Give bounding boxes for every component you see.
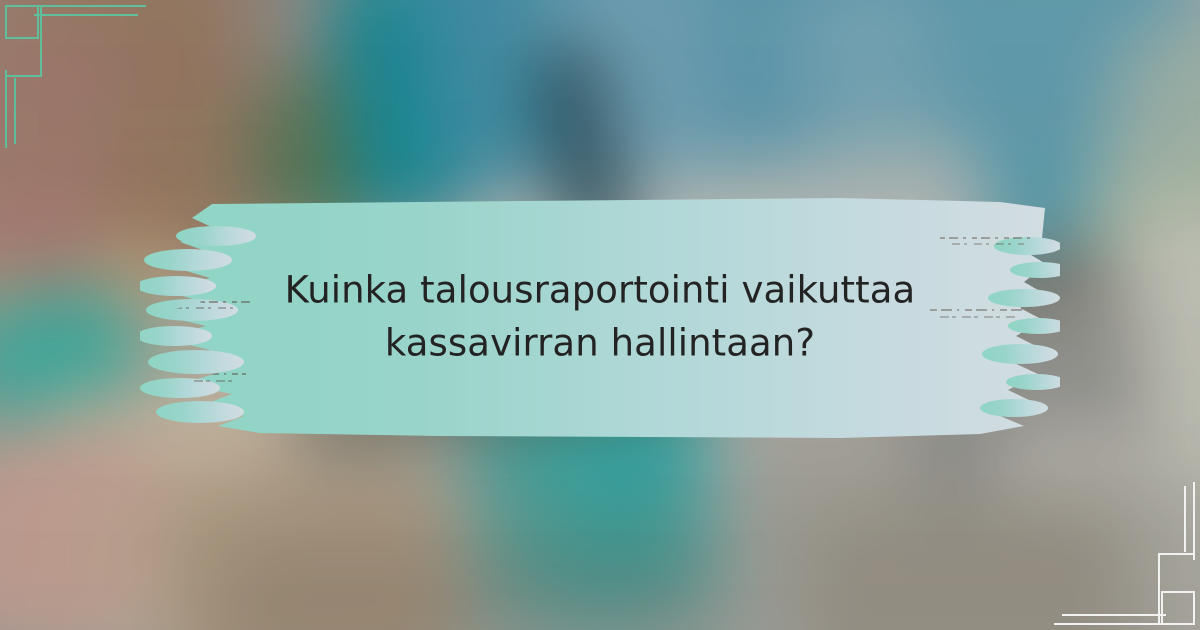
corner-square-bottom-right	[1161, 591, 1195, 625]
headline-banner: Kuinka talousraportointi vaikuttaa kassa…	[140, 186, 1060, 448]
corner-rule-left-2	[14, 78, 16, 144]
page-title: Kuinka talousraportointi vaikuttaa kassa…	[200, 264, 1000, 369]
corner-bracket-outer-elbow-br	[1158, 553, 1195, 555]
corner-bracket-top-left	[0, 0, 210, 160]
corner-rule-bottom-2	[1062, 614, 1166, 616]
corner-square-top-left	[5, 5, 39, 39]
corner-rule-top-1	[28, 5, 146, 7]
corner-rule-top-2	[34, 14, 138, 16]
corner-rule-bottom-1	[1054, 623, 1172, 625]
corner-rule-right-2	[1184, 486, 1186, 552]
corner-rule-right-1	[1193, 482, 1195, 560]
corner-rule-left-1	[5, 70, 7, 148]
corner-bracket-bottom-right	[990, 470, 1200, 630]
social-card: Kuinka talousraportointi vaikuttaa kassa…	[0, 0, 1200, 630]
corner-bracket-outer-elbow	[5, 75, 42, 77]
